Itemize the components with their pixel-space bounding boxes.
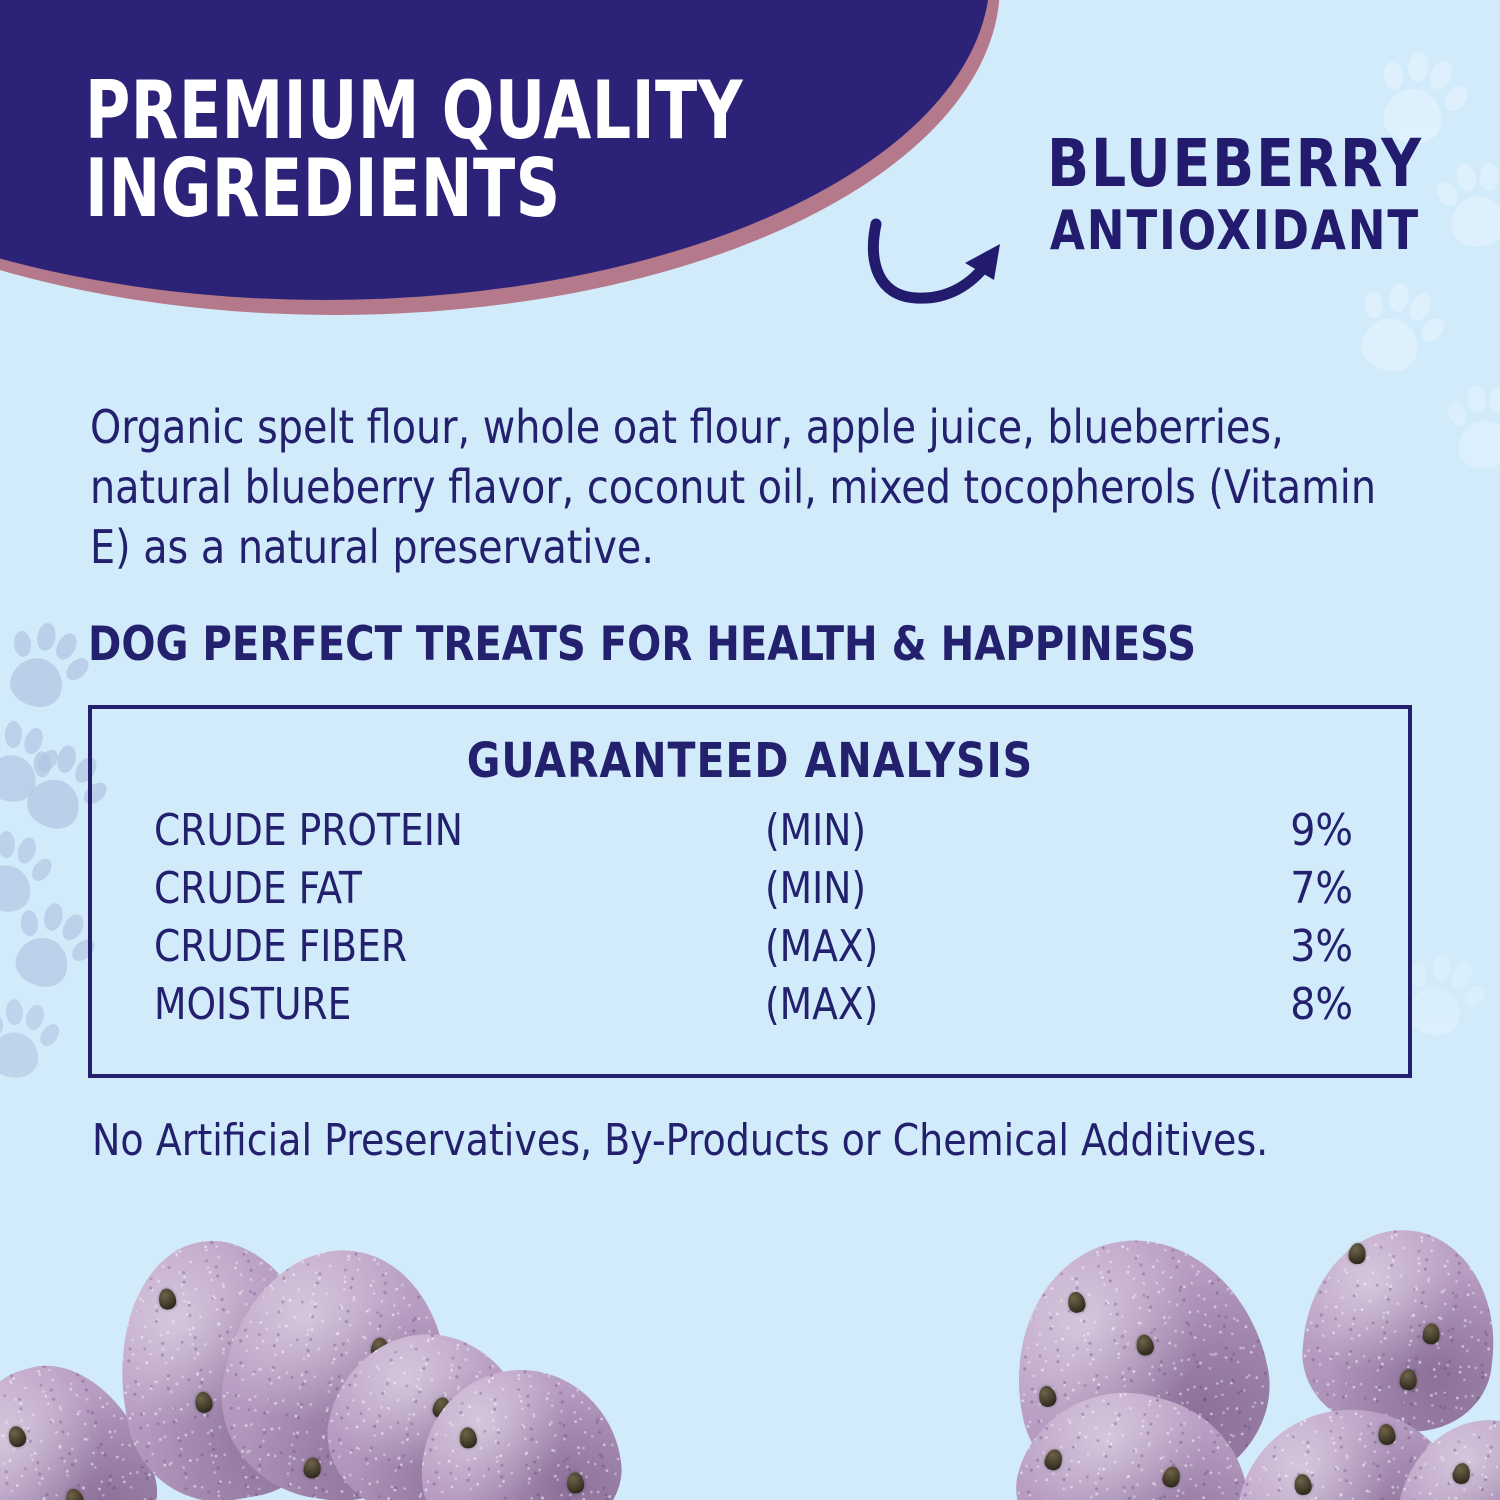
row-qualifier: (MIN) <box>765 863 866 914</box>
row-label: CRUDE FAT <box>154 863 362 914</box>
paw-print-icon <box>1440 376 1500 477</box>
table-row: MOISTURE (MAX) 8% <box>92 979 1408 1037</box>
paw-print-icon <box>0 992 64 1088</box>
table-row: CRUDE PROTEIN (MIN) 9% <box>92 805 1408 863</box>
row-value: 7% <box>1290 863 1353 914</box>
page-title-line2: INGREDIENTS <box>85 150 756 228</box>
curved-arrow-icon <box>862 218 1022 328</box>
table-row: CRUDE FIBER (MAX) 3% <box>92 921 1408 979</box>
row-qualifier: (MAX) <box>765 979 878 1030</box>
row-value: 9% <box>1290 805 1353 856</box>
guaranteed-analysis-title: GUARANTEED ANALYSIS <box>125 733 1375 789</box>
product-label-panel: PREMIUM QUALITY INGREDIENTS BLUEBERRY AN… <box>0 0 1500 1500</box>
table-row: CRUDE FAT (MIN) 7% <box>92 863 1408 921</box>
row-qualifier: (MIN) <box>765 805 866 856</box>
guaranteed-analysis-table: GUARANTEED ANALYSIS CRUDE PROTEIN (MIN) … <box>88 705 1412 1078</box>
disclaimer-text: No Artificial Preservatives, By-Products… <box>92 1115 1268 1166</box>
row-value: 3% <box>1290 921 1353 972</box>
blueberry-antioxidant-callout: BLUEBERRY ANTIOXIDANT <box>1000 130 1470 261</box>
row-label: CRUDE PROTEIN <box>154 805 463 856</box>
callout-line2: ANTIOXIDANT <box>1016 201 1453 260</box>
row-label: MOISTURE <box>154 979 351 1030</box>
paw-print-icon <box>0 609 100 725</box>
row-label: CRUDE FIBER <box>154 921 407 972</box>
tagline-heading: DOG PERFECT TREATS FOR HEALTH & HAPPINES… <box>88 617 1196 672</box>
page-title: PREMIUM QUALITY INGREDIENTS <box>85 72 756 227</box>
heart-treat-icon <box>411 1360 628 1500</box>
row-qualifier: (MAX) <box>765 921 878 972</box>
treats-photo-strip <box>0 1225 1500 1500</box>
paw-print-icon <box>1340 267 1456 388</box>
row-value: 8% <box>1290 979 1353 1030</box>
callout-line1: BLUEBERRY <box>1016 130 1453 197</box>
ingredients-text: Organic spelt flour, whole oat flour, ap… <box>90 398 1376 577</box>
